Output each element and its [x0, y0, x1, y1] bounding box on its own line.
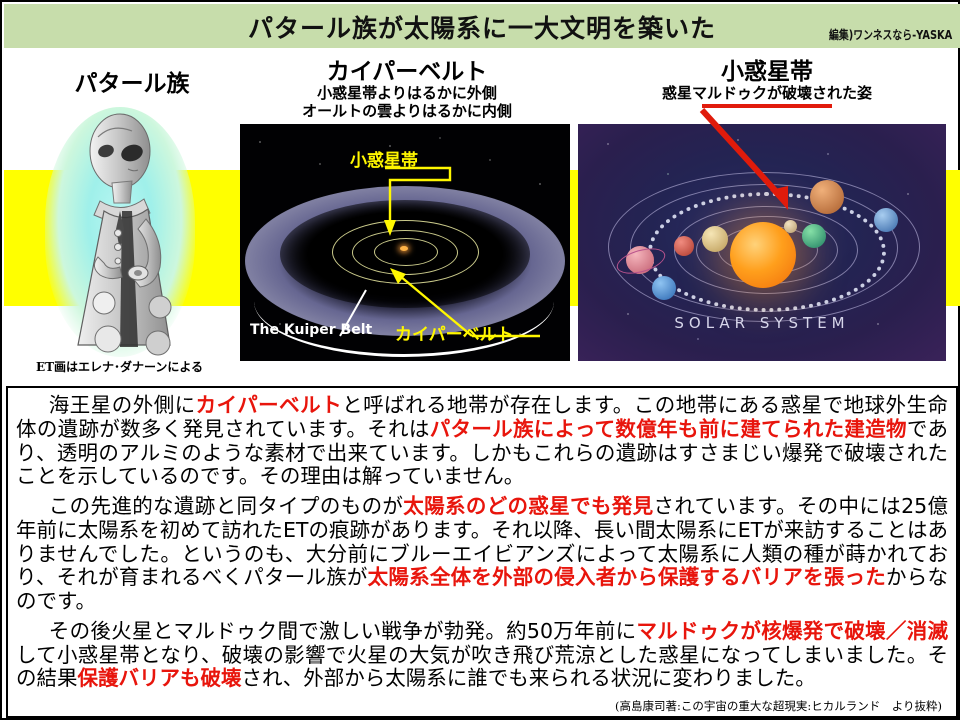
body-text-box: 海王星の外側にカイパーベルトと呼ばれる地帯が存在します。この地帯にある惑星で地球…	[6, 386, 958, 718]
column-sub1-asteroid-text: 惑星マルドゥクが破壊された姿	[662, 84, 872, 102]
column-heading-kuiper: カイパーベルト 小惑星帯よりはるかに外側 オールトの雲よりはるかに内側	[242, 60, 572, 121]
planet-uranus	[874, 208, 898, 232]
solar-system-caption: SOLAR SYSTEM	[578, 314, 946, 332]
planet-neptune	[652, 276, 676, 300]
kuiper-belt-image: 小惑星帯 カイパーベルト The Kuiper Belt	[240, 124, 570, 361]
highlighted-text: カイパーベルト	[196, 393, 342, 417]
red-arrow-icon	[696, 106, 816, 216]
alien-image-caption: ET画はエレナ･ダナーンによる	[12, 358, 227, 375]
body-text: その後火星とマルドゥク間で激しい戦争が勃発。約50万年前に	[49, 619, 637, 643]
planet-mars	[674, 236, 694, 256]
planet-earth	[802, 224, 826, 248]
highlighted-text: 保護バリアも破壊	[78, 666, 242, 690]
editor-credit: 編集)ワンネスなら-YASKA	[829, 26, 952, 43]
body-text: 海王星の外側に	[49, 393, 196, 417]
column-title-patarl: パタール族	[32, 72, 232, 97]
column-heading-asteroid: 小惑星帯 惑星マルドゥクが破壊された姿	[602, 60, 932, 103]
highlighted-text: マルドゥクが核爆発で破壊／消滅	[636, 619, 948, 643]
planet-venus	[702, 226, 728, 252]
paragraph-2: この先進的な遺跡と同タイプのものが太陽系のどの惑星でも発見されています。その中に…	[16, 495, 948, 614]
kuiper-label-english: The Kuiper Belt	[250, 322, 372, 338]
highlighted-text: パタール族によって数億年も前に建てられた建造物	[430, 417, 907, 441]
slide-root: パタール族が太陽系に一大文明を築いた 編集)ワンネスなら-YASKA パタール族…	[0, 0, 960, 720]
paragraph-3: その後火星とマルドゥク間で激しい戦争が勃発。約50万年前にマルドゥクが核爆発で破…	[16, 620, 948, 691]
column-sub1-asteroid: 惑星マルドゥクが破壊された姿	[602, 85, 932, 103]
column-title-asteroid: 小惑星帯	[602, 60, 932, 85]
kuiper-label-asteroid-belt: 小惑星帯	[350, 146, 418, 171]
highlighted-text: 太陽系全体を外部の侵入者から保護するバリアを張った	[368, 565, 886, 589]
body-text: され、外部から太陽系に誰でも来られる状況に変わりました。	[242, 666, 816, 690]
column-sub1-kuiper: 小惑星帯よりはるかに外側	[242, 85, 572, 103]
page-title: パタール族が太陽系に一大文明を築いた	[4, 9, 960, 45]
planet-mercury	[784, 220, 797, 233]
column-heading-patarl: パタール族	[32, 72, 232, 97]
slide-header: パタール族が太陽系に一大文明を築いた 編集)ワンネスなら-YASKA	[4, 4, 960, 48]
alien-figure-icon	[12, 107, 227, 357]
alien-illustration	[12, 107, 227, 357]
body-text: この先進的な遺跡と同タイプのものが	[49, 494, 403, 518]
kuiper-label-kuiper-belt: カイパーベルト	[395, 320, 514, 345]
source-citation: (高島康司著:この宇宙の重大な超現実:ヒカルランド より抜粋)	[615, 698, 942, 714]
highlighted-text: 太陽系のどの惑星でも発見	[403, 494, 653, 518]
column-sub2-kuiper: オールトの雲よりはるかに内側	[242, 103, 572, 121]
column-title-kuiper: カイパーベルト	[242, 60, 572, 85]
paragraph-1: 海王星の外側にカイパーベルトと呼ばれる地帯が存在します。この地帯にある惑星で地球…	[16, 394, 948, 489]
